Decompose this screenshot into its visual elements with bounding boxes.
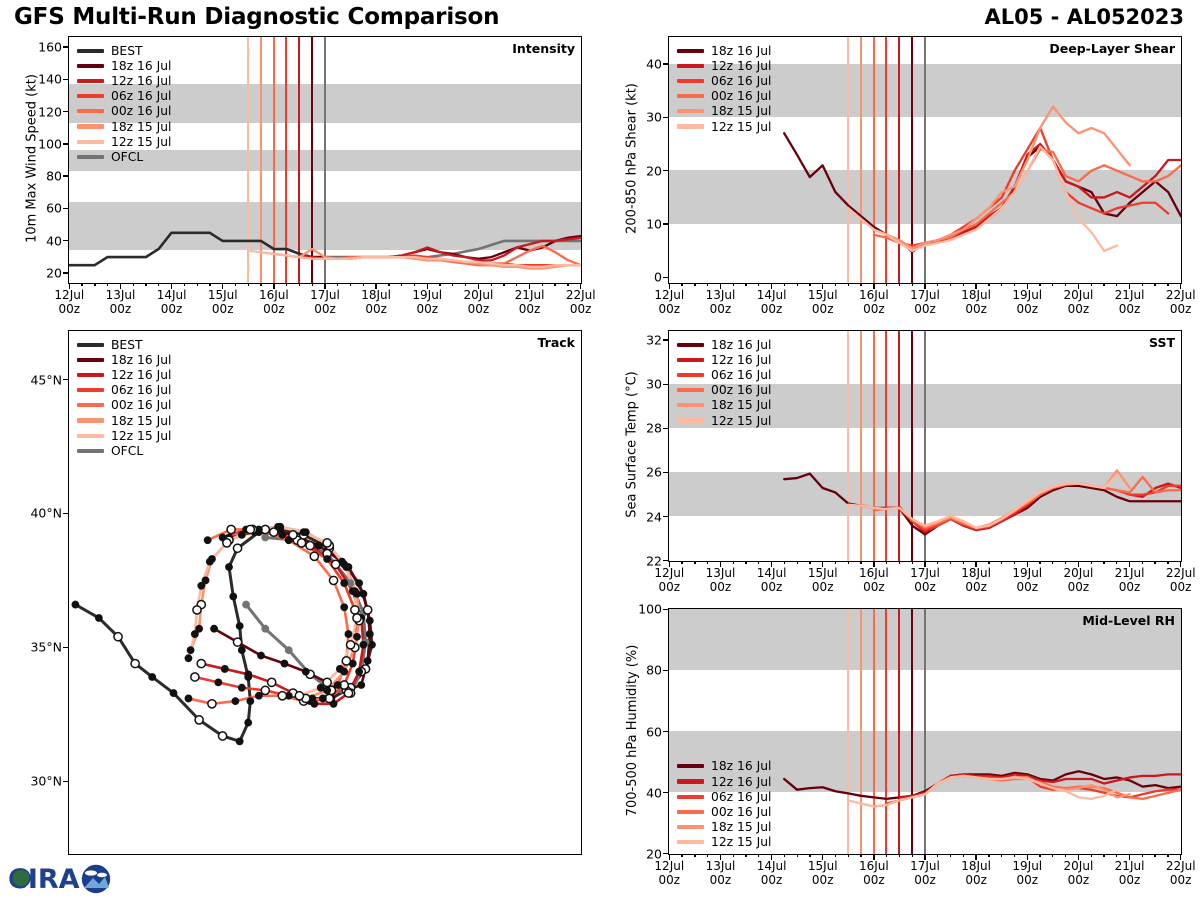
x-tick-mark [580,283,581,289]
track-marker [246,525,254,533]
x-tick-mark [848,561,849,565]
x-tick-day: 21Jul [1115,567,1145,581]
x-tick-day: 17Jul [910,567,940,581]
legend-label: 12z 16 Jul [111,74,171,88]
panel-title-track: Track [538,335,575,350]
x-tick-day: 20Jul [464,289,494,303]
y-tick-mark [663,223,668,224]
y-tick-label: 100 [16,136,62,151]
x-tick-mark [184,283,185,287]
y-tick-label: 60 [16,201,62,216]
legend-intensity: BEST18z 16 Jul12z 16 Jul06z 16 Jul00z 16… [77,43,171,165]
x-tick-label: 17Jul00z [910,567,940,595]
legend-swatch [77,343,104,347]
legend-label: 18z 15 Jul [711,820,771,834]
x-tick-hour: 00z [706,581,736,595]
x-tick-mark [542,283,543,287]
x-tick-mark [1052,283,1053,287]
track-marker [323,555,331,563]
x-tick-mark [745,854,746,858]
y-tick-label: 20 [16,266,62,281]
x-tick-label: 15Jul00z [208,289,238,317]
track-marker [210,625,218,633]
x-tick-mark [1091,283,1092,287]
x-tick-mark [733,561,734,565]
x-tick-mark [1167,854,1168,858]
x-tick-mark [912,854,913,858]
y-tick-label: 40 [616,785,662,800]
legend-label: 12z 16 Jul [711,59,771,73]
legend-swatch [677,109,704,113]
legend-item: 06z 16 Jul [77,383,171,398]
y-tick-mark [663,609,668,610]
x-tick-day: 12Jul [654,289,684,303]
y-tick-label: 35°N [10,640,62,655]
x-tick-mark [669,561,670,567]
x-tick-mark [1167,283,1168,287]
x-tick-hour: 00z [1012,581,1042,595]
x-tick-day: 16Jul [859,860,889,874]
x-tick-mark [299,283,300,287]
x-tick-mark [950,283,951,287]
x-tick-hour: 00z [1115,874,1145,888]
x-tick-label: 12Jul00z [654,860,684,888]
legend-label: 00z 16 Jul [711,805,771,819]
x-tick-mark [567,283,568,287]
x-tick-mark [924,854,925,860]
x-tick-label: 16Jul00z [859,860,889,888]
x-tick-mark [1154,561,1155,565]
x-tick-mark [720,561,721,567]
x-tick-hour: 00z [1064,874,1094,888]
x-tick-mark [1103,561,1104,565]
y-tick-mark [663,63,668,64]
x-tick-mark [1078,283,1079,289]
x-tick-mark [248,283,249,287]
legend-item: 06z 16 Jul [677,73,771,88]
x-tick-hour: 00z [1012,303,1042,317]
x-tick-mark [797,854,798,858]
legend-swatch [77,403,104,407]
legend-item: 18z 15 Jul [677,104,771,119]
track-marker [274,523,282,531]
x-tick-mark [886,283,887,287]
y-tick-mark [663,731,668,732]
track-marker [315,542,323,550]
x-tick-mark [873,561,874,567]
x-tick-hour: 00z [757,581,787,595]
track-marker [244,670,252,678]
legend-swatch [677,94,704,98]
legend-label: 12z 16 Jul [711,353,771,367]
x-tick-mark [120,283,121,289]
x-tick-mark [924,561,925,567]
x-tick-mark [273,283,274,289]
x-tick-mark [478,283,479,289]
track-marker [227,525,235,533]
legend-swatch [677,373,704,377]
track-marker [336,665,344,673]
legend-item: 00z 16 Jul [677,804,771,819]
x-tick-mark [133,283,134,287]
legend-sst: 18z 16 Jul12z 16 Jul06z 16 Jul00z 16 Jul… [677,337,771,428]
x-tick-mark [924,283,925,289]
x-tick-mark [452,283,453,287]
legend-item: BEST [77,43,171,58]
legend-label: 12z 16 Jul [711,775,771,789]
x-tick-hour: 00z [961,874,991,888]
x-tick-day: 20Jul [1064,289,1094,303]
track-marker [295,692,303,700]
track-marker [261,625,269,633]
legend-label: 18z 16 Jul [111,59,171,73]
x-tick-label: 19Jul00z [1012,860,1042,888]
legend-item: 12z 15 Jul [677,413,771,428]
x-tick-label: 13Jul00z [706,567,736,595]
y-axis-label-sst: Sea Surface Temp (°C) [625,329,640,561]
x-tick-hour: 00z [859,303,889,317]
x-tick-mark [822,854,823,860]
x-tick-label: 22Jul00z [566,289,596,317]
y-tick-mark [663,560,668,561]
track-marker [285,646,293,654]
legend-item: 12z 15 Jul [77,428,171,443]
x-tick-mark [1129,854,1130,860]
x-tick-day: 18Jul [961,567,991,581]
x-tick-day: 14Jul [757,567,787,581]
x-tick-mark [886,854,887,858]
series-line [874,776,1181,807]
page-title: GFS Multi-Run Diagnostic Comparison [14,4,499,30]
track-marker [351,606,359,614]
x-tick-mark [899,561,900,565]
legend-label: 06z 16 Jul [711,368,771,382]
x-tick-hour: 00z [1166,874,1196,888]
track-marker [231,697,239,705]
x-tick-mark [912,561,913,565]
legend-item: 12z 16 Jul [677,774,771,789]
y-tick-label: 26 [616,465,662,480]
x-tick-label: 20Jul00z [1064,567,1094,595]
x-tick-mark [860,283,861,287]
legend-label: 00z 16 Jul [711,383,771,397]
legend-label: 18z 16 Jul [711,338,771,352]
x-tick-day: 13Jul [706,567,736,581]
x-tick-label: 14Jul00z [757,567,787,595]
x-tick-mark [1027,561,1028,567]
series-line [861,107,1130,249]
x-tick-day: 17Jul [910,860,940,874]
track-marker [364,606,372,614]
x-tick-mark [1116,561,1117,565]
x-tick-hour: 00z [654,874,684,888]
x-tick-hour: 00z [706,874,736,888]
x-tick-label: 15Jul00z [808,860,838,888]
x-tick-mark [835,283,836,287]
x-tick-label: 19Jul00z [1012,289,1042,317]
legend-item: 12z 16 Jul [677,58,771,73]
legend-item: 12z 15 Jul [77,134,171,149]
track-marker [344,689,352,697]
x-tick-mark [771,283,772,289]
legend-label: 06z 16 Jul [711,74,771,88]
legend-label: 18z 16 Jul [111,353,171,367]
x-tick-mark [465,283,466,287]
legend-item: 00z 16 Jul [677,383,771,398]
x-tick-mark [720,283,721,289]
cira-logo-svg: CIRA [6,858,118,898]
track-marker [323,539,331,547]
legend-swatch [77,109,104,113]
x-tick-mark [950,561,951,565]
legend-label: 00z 16 Jul [111,398,171,412]
legend-item: BEST [77,337,171,352]
x-tick-hour: 00z [259,303,289,317]
x-tick-mark [312,283,313,287]
x-tick-label: 22Jul00z [1166,289,1196,317]
y-tick-mark [663,428,668,429]
track-marker [197,659,205,667]
x-tick-day: 22Jul [1166,567,1196,581]
legend-item: 12z 16 Jul [77,367,171,382]
x-tick-hour: 00z [1115,303,1145,317]
x-tick-mark [733,283,734,287]
x-tick-mark [950,854,951,858]
x-tick-mark [975,561,976,567]
x-tick-label: 17Jul00z [310,289,340,317]
y-tick-mark [63,46,68,47]
x-tick-day: 13Jul [706,860,736,874]
track-marker [114,633,122,641]
x-tick-mark [1154,854,1155,858]
x-tick-label: 20Jul00z [464,289,494,317]
x-tick-mark [94,283,95,287]
track-marker [317,684,325,692]
track-marker [206,558,214,566]
y-tick-label: 40°N [10,506,62,521]
x-tick-label: 20Jul00z [1064,860,1094,888]
x-tick-hour: 00z [464,303,494,317]
x-tick-mark [848,854,849,858]
x-tick-day: 19Jul [1012,860,1042,874]
x-tick-mark [745,283,746,287]
x-tick-mark [1180,283,1181,289]
x-tick-label: 12Jul00z [654,567,684,595]
legend-swatch [77,418,104,422]
y-tick-mark [63,240,68,241]
track-marker [355,579,363,587]
legend-item: 18z 16 Jul [677,43,771,58]
y-tick-mark [663,516,668,517]
x-tick-mark [733,854,734,858]
x-tick-mark [414,283,415,287]
track-marker [193,606,201,614]
x-tick-mark [1027,283,1028,289]
x-tick-mark [975,854,976,860]
panel-shear: Deep-Layer Shear18z 16 Jul12z 16 Jul06z … [668,36,1182,284]
track-marker [255,692,263,700]
x-tick-mark [286,283,287,287]
panel-title-shear: Deep-Layer Shear [1049,41,1175,56]
y-tick-mark [663,277,668,278]
y-tick-mark [663,670,668,671]
legend-label: 00z 16 Jul [111,104,171,118]
x-tick-mark [1103,283,1104,287]
track-marker [329,576,337,584]
legend-label: OFCL [111,444,143,458]
y-tick-mark [663,792,668,793]
x-tick-mark [1065,854,1066,858]
legend-swatch [677,764,704,768]
track-marker [185,695,193,703]
x-tick-mark [171,283,172,289]
x-tick-mark [669,854,670,860]
y-tick-label: 45°N [10,372,62,387]
y-tick-mark [63,379,68,380]
x-tick-mark [427,283,428,289]
legend-label: 12z 15 Jul [711,835,771,849]
legend-label: 18z 16 Jul [711,759,771,773]
x-tick-day: 20Jul [1064,860,1094,874]
x-tick-mark [835,561,836,565]
x-tick-hour: 00z [961,303,991,317]
x-tick-mark [899,283,900,287]
x-tick-mark [69,283,70,289]
x-tick-day: 13Jul [106,289,136,303]
x-tick-label: 17Jul00z [910,860,940,888]
x-tick-mark [707,561,708,565]
legend-swatch [77,124,104,128]
legend-swatch [677,825,704,829]
track-marker [334,681,342,689]
x-tick-mark [388,283,389,287]
x-tick-day: 14Jul [157,289,187,303]
x-tick-day: 14Jul [757,860,787,874]
track-marker [131,659,139,667]
x-tick-mark [1142,854,1143,858]
legend-label: OFCL [111,150,143,164]
track-marker [261,534,269,542]
track-marker [357,681,365,689]
x-tick-label: 21Jul00z [1115,860,1145,888]
x-tick-mark [975,283,976,289]
y-tick-mark [63,143,68,144]
legend-swatch [677,779,704,783]
legend-item: 18z 16 Jul [77,58,171,73]
x-tick-day: 20Jul [1064,567,1094,581]
x-tick-mark [937,561,938,565]
x-tick-mark [758,854,759,858]
track-marker [342,657,350,665]
x-tick-mark [694,854,695,858]
x-tick-mark [963,283,964,287]
legend-item: OFCL [77,443,171,458]
x-tick-day: 21Jul [1115,860,1145,874]
x-tick-mark [860,854,861,858]
track-marker [302,668,310,676]
x-tick-hour: 00z [808,303,838,317]
legend-swatch [77,155,104,159]
y-tick-label: 24 [616,509,662,524]
legend-item: 18z 15 Jul [677,820,771,835]
legend-item: 00z 16 Jul [77,104,171,119]
x-tick-mark [1014,283,1015,287]
x-tick-label: 18Jul00z [961,289,991,317]
x-tick-mark [491,283,492,287]
x-tick-mark [899,854,900,858]
x-tick-label: 18Jul00z [961,860,991,888]
x-tick-mark [235,283,236,287]
x-tick-mark [809,854,810,858]
track-marker [195,716,203,724]
x-tick-mark [694,283,695,287]
x-tick-mark [1078,561,1079,567]
y-tick-label: 30°N [10,774,62,789]
x-tick-label: 21Jul00z [515,289,545,317]
legend-swatch [77,64,104,68]
x-tick-mark [363,283,364,287]
legend-swatch [77,449,104,453]
x-tick-day: 12Jul [654,860,684,874]
legend-swatch [677,79,704,83]
legend-label: 12z 16 Jul [111,368,171,382]
panel-title-intensity: Intensity [512,41,575,56]
x-tick-mark [1065,561,1066,565]
x-tick-hour: 00z [310,303,340,317]
x-tick-label: 14Jul00z [157,289,187,317]
series-line [887,128,1169,246]
legend-item: 18z 16 Jul [677,759,771,774]
x-tick-mark [758,283,759,287]
x-tick-mark [375,283,376,289]
x-tick-label: 22Jul00z [1166,860,1196,888]
legend-item: 18z 16 Jul [77,352,171,367]
x-tick-mark [1039,561,1040,565]
x-tick-mark [1078,854,1079,860]
legend-swatch [677,810,704,814]
x-tick-day: 17Jul [310,289,340,303]
x-tick-day: 14Jul [757,289,787,303]
x-tick-label: 12Jul00z [654,289,684,317]
x-tick-hour: 00z [1064,581,1094,595]
track-marker [191,673,199,681]
x-tick-mark [784,854,785,858]
x-tick-label: 20Jul00z [1064,289,1094,317]
y-tick-mark [663,170,668,171]
legend-swatch [677,124,704,128]
legend-item: 18z 15 Jul [77,119,171,134]
x-tick-hour: 00z [757,303,787,317]
x-tick-mark [912,283,913,287]
x-tick-day: 19Jul [412,289,442,303]
x-tick-day: 12Jul [54,289,84,303]
x-tick-label: 15Jul00z [808,567,838,595]
x-tick-day: 18Jul [961,860,991,874]
x-tick-mark [694,561,695,565]
y-tick-label: 10 [616,217,662,232]
x-tick-day: 12Jul [654,567,684,581]
x-tick-mark [324,283,325,289]
x-tick-mark [835,854,836,858]
y-tick-mark [663,384,668,385]
x-tick-day: 17Jul [910,289,940,303]
x-tick-mark [963,561,964,565]
x-tick-mark [1027,854,1028,860]
legend-label: 06z 16 Jul [711,790,771,804]
x-tick-day: 13Jul [706,289,736,303]
y-tick-mark [63,781,68,782]
y-tick-label: 60 [616,724,662,739]
